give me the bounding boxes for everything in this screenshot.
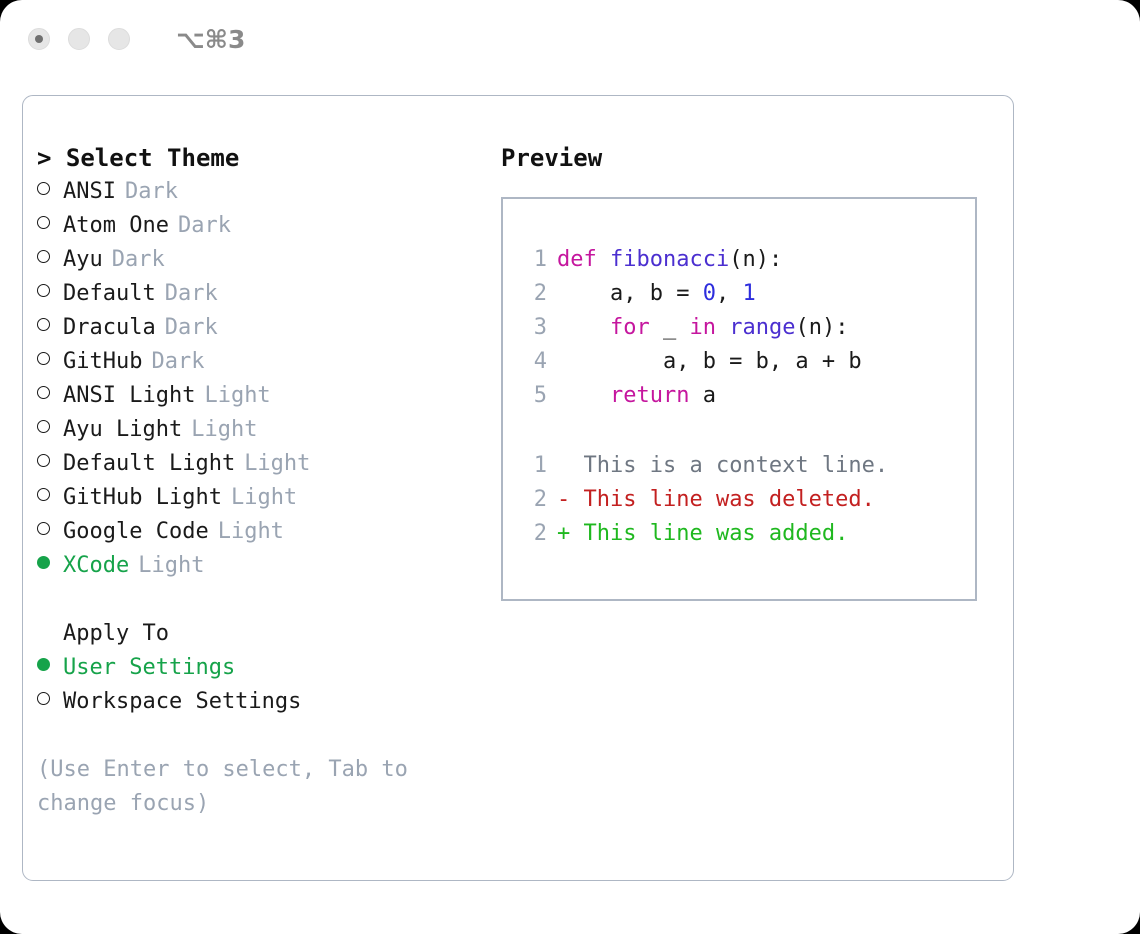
keyboard-shortcut-label: ⌥⌘3 bbox=[176, 25, 245, 54]
select-theme-heading: > Select Theme bbox=[37, 141, 477, 175]
theme-kind: Dark bbox=[169, 209, 231, 243]
preview-panel: Preview 1 def fibonacci(n): 2 a, b = 0, … bbox=[501, 141, 1001, 601]
theme-list-item[interactable]: GitHub Dark bbox=[37, 345, 477, 379]
code-content: return a bbox=[557, 379, 716, 413]
theme-list-item[interactable]: Ayu Light Light bbox=[37, 413, 477, 447]
token-plain: a, b = bbox=[557, 281, 703, 306]
theme-list-item[interactable]: GitHub Light Light bbox=[37, 481, 477, 515]
diff-line-context: 1 This is a context line. bbox=[503, 449, 975, 483]
token-plain bbox=[557, 315, 610, 340]
token-plain: a bbox=[689, 383, 716, 408]
window-dot-active-icon[interactable] bbox=[28, 28, 50, 50]
theme-label: Default bbox=[63, 277, 156, 311]
diff-line-added: 2 + This line was added. bbox=[503, 517, 975, 551]
theme-label: Atom One bbox=[63, 209, 169, 243]
theme-kind: Dark bbox=[156, 311, 218, 345]
theme-kind: Light bbox=[129, 549, 204, 583]
theme-list-item[interactable]: ANSI Light Light bbox=[37, 379, 477, 413]
theme-list-item[interactable]: Google Code Light bbox=[37, 515, 477, 549]
line-number: 5 bbox=[517, 379, 557, 413]
theme-select-panel: > Select Theme ANSI Dark Atom One Dark bbox=[37, 141, 477, 821]
line-number: 1 bbox=[517, 449, 557, 483]
code-line: 1 def fibonacci(n): bbox=[503, 243, 975, 277]
window-controls bbox=[28, 28, 130, 50]
diff-line-deleted: 2 - This line was deleted. bbox=[503, 483, 975, 517]
code-content: def fibonacci(n): bbox=[557, 243, 782, 277]
theme-label: ANSI Light bbox=[63, 379, 195, 413]
diff-sign: + bbox=[557, 517, 570, 551]
theme-list: ANSI Dark Atom One Dark Ayu Dark bbox=[37, 175, 477, 583]
token-plain: (n): bbox=[729, 247, 782, 272]
window-dot-icon[interactable] bbox=[68, 28, 90, 50]
theme-kind: Light bbox=[209, 515, 284, 549]
line-number: 2 bbox=[517, 517, 557, 551]
diff-text: This line was deleted. bbox=[570, 483, 875, 517]
theme-label: XCode bbox=[63, 549, 129, 583]
window-dot-icon[interactable] bbox=[108, 28, 130, 50]
code-sample: 1 def fibonacci(n): 2 a, b = 0, 1 3 for … bbox=[503, 243, 975, 413]
code-content: a, b = 0, 1 bbox=[557, 277, 756, 311]
code-line: 4 a, b = b, a + b bbox=[503, 345, 975, 379]
token-keyword: def bbox=[557, 247, 610, 272]
line-number: 2 bbox=[517, 277, 557, 311]
code-content: for _ in range(n): bbox=[557, 311, 848, 345]
keyboard-hint-text: (Use Enter to select, Tab to change focu… bbox=[37, 753, 437, 821]
theme-kind: Dark bbox=[103, 243, 165, 277]
theme-list-item-selected[interactable]: XCode Light bbox=[37, 549, 477, 583]
token-number: 1 bbox=[742, 281, 755, 306]
token-plain bbox=[557, 383, 610, 408]
window-titlebar: ⌥⌘3 bbox=[0, 0, 1140, 78]
theme-kind: Dark bbox=[156, 277, 218, 311]
theme-list-item[interactable]: ANSI Dark bbox=[37, 175, 477, 209]
theme-label: Ayu bbox=[63, 243, 103, 277]
theme-kind: Dark bbox=[116, 175, 178, 209]
theme-label: Default Light bbox=[63, 447, 235, 481]
token-plain bbox=[716, 315, 729, 340]
window-dot-inner bbox=[35, 35, 43, 43]
diff-text: This line was added. bbox=[570, 517, 848, 551]
token-function: fibonacci bbox=[610, 247, 729, 272]
theme-kind: Light bbox=[195, 379, 270, 413]
code-diff-separator bbox=[503, 413, 975, 449]
diff-sign bbox=[557, 449, 570, 483]
apply-to-label: User Settings bbox=[63, 651, 235, 685]
app-window: ⌥⌘3 > Select Theme ANSI Dark Atom One Da… bbox=[0, 0, 1140, 934]
code-line: 3 for _ in range(n): bbox=[503, 311, 975, 345]
apply-to-option-user-settings[interactable]: User Settings bbox=[37, 651, 477, 685]
code-line: 2 a, b = 0, 1 bbox=[503, 277, 975, 311]
token-keyword: in bbox=[689, 315, 716, 340]
theme-list-item[interactable]: Default Light Light bbox=[37, 447, 477, 481]
theme-label: Google Code bbox=[63, 515, 209, 549]
apply-to-group: Apply To User Settings Workspace Setting… bbox=[37, 617, 477, 719]
preview-box: 1 def fibonacci(n): 2 a, b = 0, 1 3 for … bbox=[501, 197, 977, 601]
line-number: 4 bbox=[517, 345, 557, 379]
code-content: a, b = b, a + b bbox=[557, 345, 862, 379]
line-number: 1 bbox=[517, 243, 557, 277]
theme-list-item[interactable]: Atom One Dark bbox=[37, 209, 477, 243]
code-line: 5 return a bbox=[503, 379, 975, 413]
apply-to-heading-row: Apply To bbox=[37, 617, 477, 651]
theme-list-item[interactable]: Default Dark bbox=[37, 277, 477, 311]
token-function: range bbox=[729, 315, 795, 340]
line-number: 3 bbox=[517, 311, 557, 345]
diff-sign: - bbox=[557, 483, 570, 517]
token-plain: a, b = b, a + b bbox=[557, 349, 862, 374]
card-columns: > Select Theme ANSI Dark Atom One Dark bbox=[23, 96, 1013, 880]
token-keyword: for bbox=[610, 315, 650, 340]
diff-text: This is a context line. bbox=[570, 449, 888, 483]
theme-kind: Light bbox=[235, 447, 310, 481]
theme-list-item[interactable]: Ayu Dark bbox=[37, 243, 477, 277]
apply-to-option-workspace-settings[interactable]: Workspace Settings bbox=[37, 685, 477, 719]
theme-label: Ayu Light bbox=[63, 413, 182, 447]
hint-spacer bbox=[37, 719, 477, 753]
diff-sample: 1 This is a context line. 2 - This line … bbox=[503, 449, 975, 551]
main-card: > Select Theme ANSI Dark Atom One Dark bbox=[22, 95, 1014, 881]
token-plain: , bbox=[716, 281, 743, 306]
theme-kind: Dark bbox=[142, 345, 204, 379]
list-spacer bbox=[37, 583, 477, 617]
theme-label: GitHub bbox=[63, 345, 142, 379]
theme-label: Dracula bbox=[63, 311, 156, 345]
theme-kind: Light bbox=[182, 413, 257, 447]
theme-label: ANSI bbox=[63, 175, 116, 209]
apply-to-heading: Apply To bbox=[63, 617, 169, 651]
token-number: 0 bbox=[703, 281, 716, 306]
token-plain: (n): bbox=[795, 315, 848, 340]
token-plain: _ bbox=[650, 315, 690, 340]
theme-kind: Light bbox=[222, 481, 297, 515]
token-keyword: return bbox=[610, 383, 689, 408]
theme-list-item[interactable]: Dracula Dark bbox=[37, 311, 477, 345]
line-number: 2 bbox=[517, 483, 557, 517]
preview-heading: Preview bbox=[501, 141, 1001, 175]
apply-to-label: Workspace Settings bbox=[63, 685, 301, 719]
theme-label: GitHub Light bbox=[63, 481, 222, 515]
